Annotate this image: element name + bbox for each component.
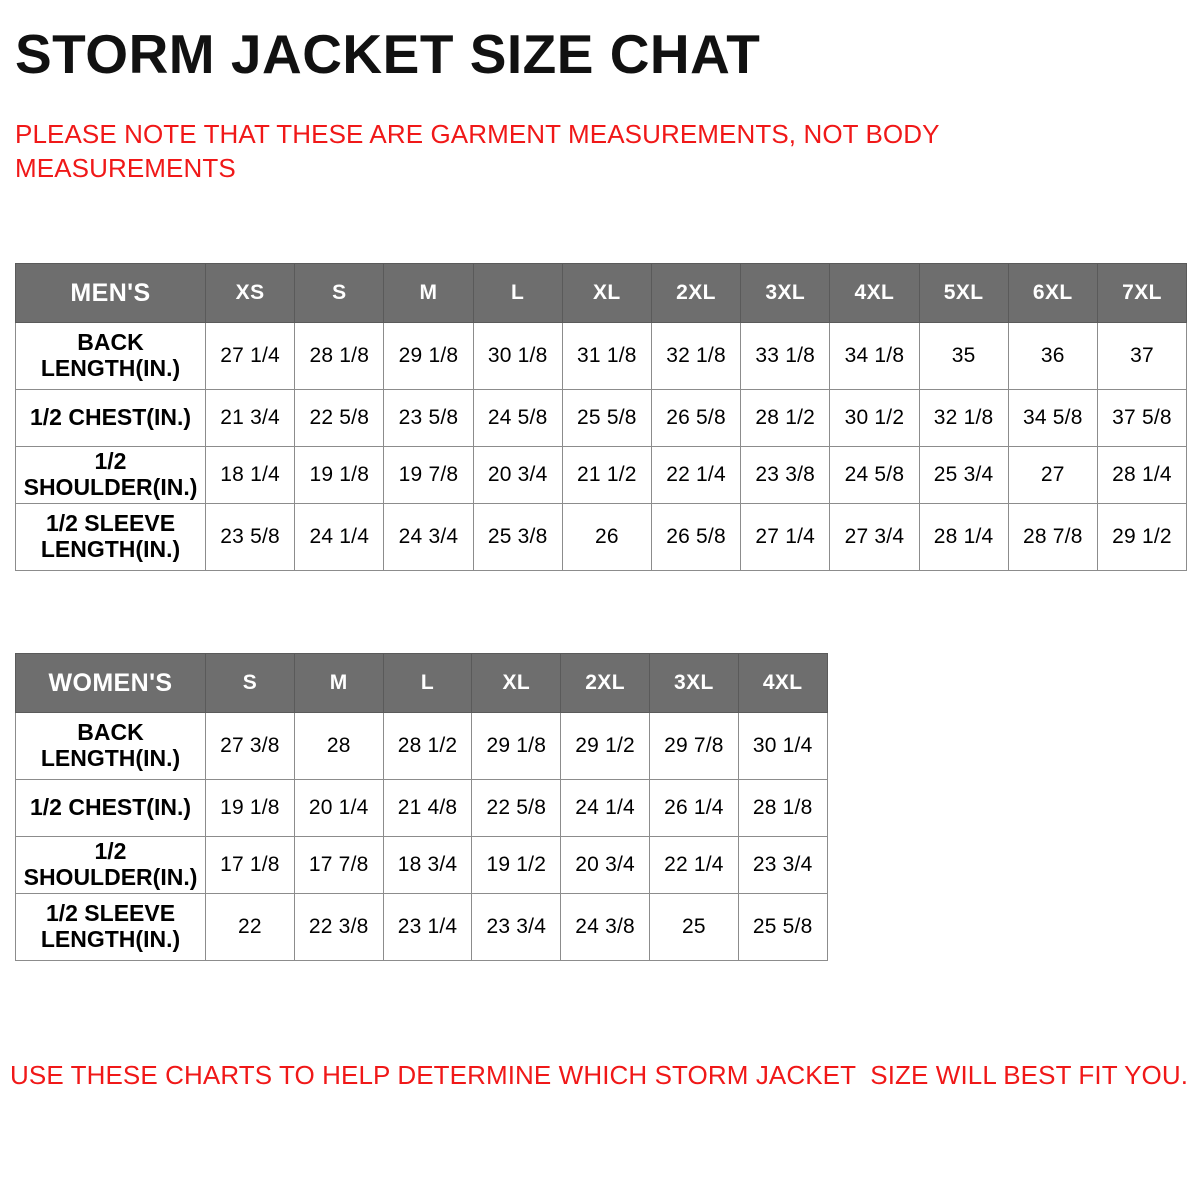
mens-row-label-3: 1/2 SLEEVE LENGTH(IN.) xyxy=(16,504,206,571)
womens-cell-1-6: 28 1/8 xyxy=(738,780,827,837)
page-title: STORM JACKET SIZE CHAT xyxy=(15,26,760,84)
womens-cell-3-0: 22 xyxy=(206,894,295,961)
womens-header-title: WOMEN'S xyxy=(16,654,206,713)
womens-cell-2-1: 17 7/8 xyxy=(294,837,383,894)
mens-header-size-3xl: 3XL xyxy=(741,264,830,323)
mens-cell-2-3: 20 3/4 xyxy=(473,447,562,504)
mens-cell-3-4: 26 xyxy=(562,504,651,571)
womens-cell-2-5: 22 1/4 xyxy=(649,837,738,894)
mens-cell-2-2: 19 7/8 xyxy=(384,447,473,504)
womens-header-size-xl: XL xyxy=(472,654,561,713)
mens-row-label-2: 1/2 SHOULDER(IN.) xyxy=(16,447,206,504)
womens-cell-2-4: 20 3/4 xyxy=(561,837,650,894)
mens-cell-1-4: 25 5/8 xyxy=(562,390,651,447)
mens-cell-0-4: 31 1/8 xyxy=(562,323,651,390)
womens-cell-2-6: 23 3/4 xyxy=(738,837,827,894)
womens-cell-3-1: 22 3/8 xyxy=(294,894,383,961)
table-row: 1/2 CHEST(IN.)19 1/820 1/421 4/822 5/824… xyxy=(16,780,828,837)
mens-cell-1-7: 30 1/2 xyxy=(830,390,919,447)
womens-row-label-3: 1/2 SLEEVE LENGTH(IN.) xyxy=(16,894,206,961)
womens-table-body: BACK LENGTH(IN.)27 3/82828 1/229 1/829 1… xyxy=(16,713,828,961)
womens-cell-1-0: 19 1/8 xyxy=(206,780,295,837)
table-row: 1/2 SLEEVE LENGTH(IN.)23 5/824 1/424 3/4… xyxy=(16,504,1187,571)
mens-cell-1-2: 23 5/8 xyxy=(384,390,473,447)
mens-cell-3-2: 24 3/4 xyxy=(384,504,473,571)
womens-cell-0-2: 28 1/2 xyxy=(383,713,472,780)
womens-header-size-m: M xyxy=(294,654,383,713)
womens-cell-3-2: 23 1/4 xyxy=(383,894,472,961)
mens-cell-1-9: 34 5/8 xyxy=(1008,390,1097,447)
mens-header-size-6xl: 6XL xyxy=(1008,264,1097,323)
mens-cell-2-1: 19 1/8 xyxy=(295,447,384,504)
mens-size-table: MEN'SXSSMLXL2XL3XL4XL5XL6XL7XL BACK LENG… xyxy=(15,263,1187,571)
mens-header-row: MEN'SXSSMLXL2XL3XL4XL5XL6XL7XL xyxy=(16,264,1187,323)
mens-cell-3-10: 29 1/2 xyxy=(1097,504,1186,571)
table-row: 1/2 SHOULDER(IN.)18 1/419 1/819 7/820 3/… xyxy=(16,447,1187,504)
womens-cell-1-3: 22 5/8 xyxy=(472,780,561,837)
mens-cell-0-6: 33 1/8 xyxy=(741,323,830,390)
table-row: 1/2 SHOULDER(IN.)17 1/817 7/818 3/419 1/… xyxy=(16,837,828,894)
mens-cell-0-7: 34 1/8 xyxy=(830,323,919,390)
womens-cell-3-4: 24 3/8 xyxy=(561,894,650,961)
mens-header-size-xs: XS xyxy=(206,264,295,323)
womens-table-head: WOMEN'SSMLXL2XL3XL4XL xyxy=(16,654,828,713)
womens-cell-2-0: 17 1/8 xyxy=(206,837,295,894)
womens-row-label-2: 1/2 SHOULDER(IN.) xyxy=(16,837,206,894)
mens-cell-1-1: 22 5/8 xyxy=(295,390,384,447)
womens-header-size-l: L xyxy=(383,654,472,713)
mens-cell-1-6: 28 1/2 xyxy=(741,390,830,447)
womens-size-table: WOMEN'SSMLXL2XL3XL4XL BACK LENGTH(IN.)27… xyxy=(15,653,828,961)
mens-header-size-4xl: 4XL xyxy=(830,264,919,323)
womens-cell-3-6: 25 5/8 xyxy=(738,894,827,961)
table-row: 1/2 SLEEVE LENGTH(IN.)2222 3/823 1/423 3… xyxy=(16,894,828,961)
womens-header-row: WOMEN'SSMLXL2XL3XL4XL xyxy=(16,654,828,713)
mens-cell-0-3: 30 1/8 xyxy=(473,323,562,390)
mens-cell-3-6: 27 1/4 xyxy=(741,504,830,571)
mens-cell-0-1: 28 1/8 xyxy=(295,323,384,390)
mens-cell-0-5: 32 1/8 xyxy=(651,323,740,390)
mens-row-label-1: 1/2 CHEST(IN.) xyxy=(16,390,206,447)
mens-header-size-l: L xyxy=(473,264,562,323)
footer-note: USE THESE CHARTS TO HELP DETERMINE WHICH… xyxy=(10,1060,1190,1091)
womens-cell-2-3: 19 1/2 xyxy=(472,837,561,894)
womens-header-size-3xl: 3XL xyxy=(649,654,738,713)
mens-cell-2-7: 24 5/8 xyxy=(830,447,919,504)
womens-cell-0-5: 29 7/8 xyxy=(649,713,738,780)
mens-cell-3-9: 28 7/8 xyxy=(1008,504,1097,571)
table-row: BACK LENGTH(IN.)27 1/428 1/829 1/830 1/8… xyxy=(16,323,1187,390)
mens-header-size-2xl: 2XL xyxy=(651,264,740,323)
mens-cell-1-10: 37 5/8 xyxy=(1097,390,1186,447)
mens-cell-0-0: 27 1/4 xyxy=(206,323,295,390)
womens-cell-2-2: 18 3/4 xyxy=(383,837,472,894)
mens-header-title: MEN'S xyxy=(16,264,206,323)
mens-table-body: BACK LENGTH(IN.)27 1/428 1/829 1/830 1/8… xyxy=(16,323,1187,571)
womens-header-size-s: S xyxy=(206,654,295,713)
mens-header-size-s: S xyxy=(295,264,384,323)
mens-header-size-xl: XL xyxy=(562,264,651,323)
mens-header-size-5xl: 5XL xyxy=(919,264,1008,323)
mens-cell-2-5: 22 1/4 xyxy=(651,447,740,504)
table-row: 1/2 CHEST(IN.)21 3/422 5/823 5/824 5/825… xyxy=(16,390,1187,447)
womens-cell-1-4: 24 1/4 xyxy=(561,780,650,837)
table-row: BACK LENGTH(IN.)27 3/82828 1/229 1/829 1… xyxy=(16,713,828,780)
mens-cell-0-10: 37 xyxy=(1097,323,1186,390)
mens-header-size-7xl: 7XL xyxy=(1097,264,1186,323)
mens-cell-0-9: 36 xyxy=(1008,323,1097,390)
mens-cell-2-0: 18 1/4 xyxy=(206,447,295,504)
mens-cell-2-6: 23 3/8 xyxy=(741,447,830,504)
womens-cell-1-1: 20 1/4 xyxy=(294,780,383,837)
mens-cell-1-3: 24 5/8 xyxy=(473,390,562,447)
womens-cell-0-3: 29 1/8 xyxy=(472,713,561,780)
mens-cell-3-8: 28 1/4 xyxy=(919,504,1008,571)
womens-cell-1-2: 21 4/8 xyxy=(383,780,472,837)
womens-cell-0-6: 30 1/4 xyxy=(738,713,827,780)
womens-cell-3-3: 23 3/4 xyxy=(472,894,561,961)
mens-cell-3-0: 23 5/8 xyxy=(206,504,295,571)
womens-cell-1-5: 26 1/4 xyxy=(649,780,738,837)
garment-measurement-note: PLEASE NOTE THAT THESE ARE GARMENT MEASU… xyxy=(15,118,995,186)
mens-cell-3-7: 27 3/4 xyxy=(830,504,919,571)
mens-cell-0-8: 35 xyxy=(919,323,1008,390)
mens-header-size-m: M xyxy=(384,264,473,323)
womens-header-size-2xl: 2XL xyxy=(561,654,650,713)
womens-cell-0-4: 29 1/2 xyxy=(561,713,650,780)
mens-cell-3-5: 26 5/8 xyxy=(651,504,740,571)
mens-cell-2-8: 25 3/4 xyxy=(919,447,1008,504)
mens-cell-1-8: 32 1/8 xyxy=(919,390,1008,447)
mens-cell-3-1: 24 1/4 xyxy=(295,504,384,571)
mens-row-label-0: BACK LENGTH(IN.) xyxy=(16,323,206,390)
mens-cell-0-2: 29 1/8 xyxy=(384,323,473,390)
womens-cell-3-5: 25 xyxy=(649,894,738,961)
mens-cell-2-4: 21 1/2 xyxy=(562,447,651,504)
womens-header-size-4xl: 4XL xyxy=(738,654,827,713)
womens-row-label-0: BACK LENGTH(IN.) xyxy=(16,713,206,780)
mens-cell-1-5: 26 5/8 xyxy=(651,390,740,447)
womens-cell-0-0: 27 3/8 xyxy=(206,713,295,780)
mens-table-head: MEN'SXSSMLXL2XL3XL4XL5XL6XL7XL xyxy=(16,264,1187,323)
mens-cell-2-10: 28 1/4 xyxy=(1097,447,1186,504)
mens-cell-1-0: 21 3/4 xyxy=(206,390,295,447)
mens-cell-3-3: 25 3/8 xyxy=(473,504,562,571)
womens-row-label-1: 1/2 CHEST(IN.) xyxy=(16,780,206,837)
womens-cell-0-1: 28 xyxy=(294,713,383,780)
mens-cell-2-9: 27 xyxy=(1008,447,1097,504)
